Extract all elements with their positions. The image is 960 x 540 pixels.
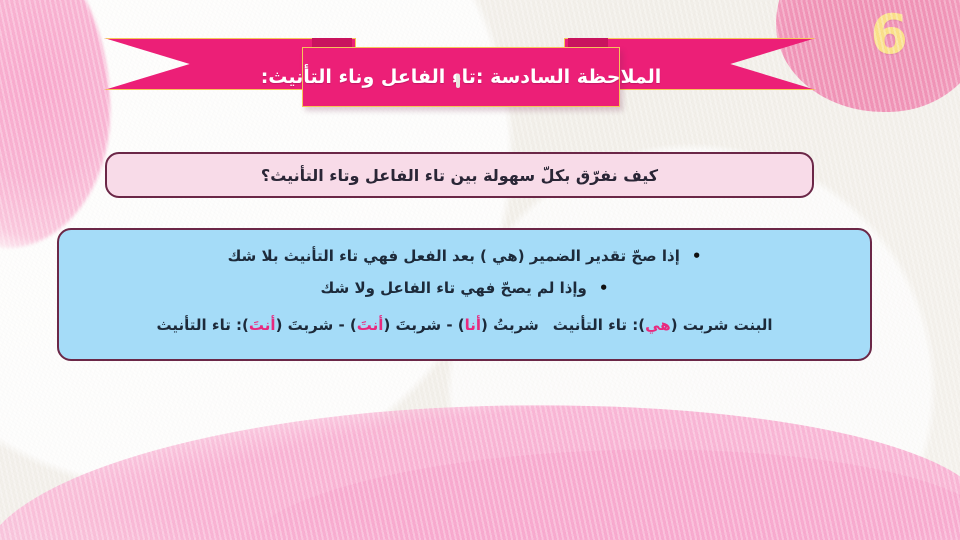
pronoun-anti: أنتَ: [249, 316, 276, 334]
bullet-icon: •: [692, 249, 702, 264]
example-segment-4: ) - شربتَ (: [383, 316, 464, 334]
banner-title: الملاحظة السادسة :تاء الفاعل وناء التأني…: [261, 66, 662, 88]
pronoun-hiya: هي: [645, 316, 671, 334]
question-text: كيف نفرّق بكلّ سهولة بين تاء الفاعل وتاء…: [261, 166, 658, 185]
example-segment-1: البنت شربت (: [671, 316, 773, 334]
example-segment-2: ): تاء التأنيث: [553, 316, 645, 334]
rules-box: • إذا صحّ تقدير الضمير (هي ) بعد الفعل ف…: [57, 228, 872, 361]
rule-text-2: وإذا لم يصحّ فهي تاء الفاعل ولا شك: [321, 279, 587, 297]
ribbon-banner: الملاحظة السادسة :تاء الفاعل وناء التأني…: [104, 33, 816, 105]
example-segment-3: شربتُ (: [481, 316, 539, 334]
slide-canvas: 6 الملاحظة السادسة :تاء الفاعل وناء التأ…: [0, 0, 960, 540]
rule-text-1: إذا صحّ تقدير الضمير (هي ) بعد الفعل فهي…: [228, 247, 680, 265]
ribbon-center-plate: الملاحظة السادسة :تاء الفاعل وناء التأني…: [302, 47, 620, 107]
rule-item-2: • وإذا لم يصحّ فهي تاء الفاعل ولا شك: [83, 272, 846, 304]
ribbon-pin-icon: [456, 74, 460, 88]
watercolor-blob-left: [0, 0, 110, 248]
example-line: البنت شربت (هي ): تاء التأنيثشربتُ (أنا …: [83, 308, 846, 342]
pronoun-ana: أنا: [465, 316, 481, 334]
example-segment-5: ) - شربتَ (: [276, 316, 357, 334]
bullet-icon: •: [599, 281, 609, 296]
question-box: كيف نفرّق بكلّ سهولة بين تاء الفاعل وتاء…: [105, 152, 814, 198]
rule-item-1: • إذا صحّ تقدير الضمير (هي ) بعد الفعل ف…: [83, 240, 846, 272]
example-segment-6: ): تاء التأنيث: [157, 316, 249, 334]
pronoun-anta: أنتَ: [357, 316, 384, 334]
slide-number-badge: 6: [870, 8, 908, 62]
